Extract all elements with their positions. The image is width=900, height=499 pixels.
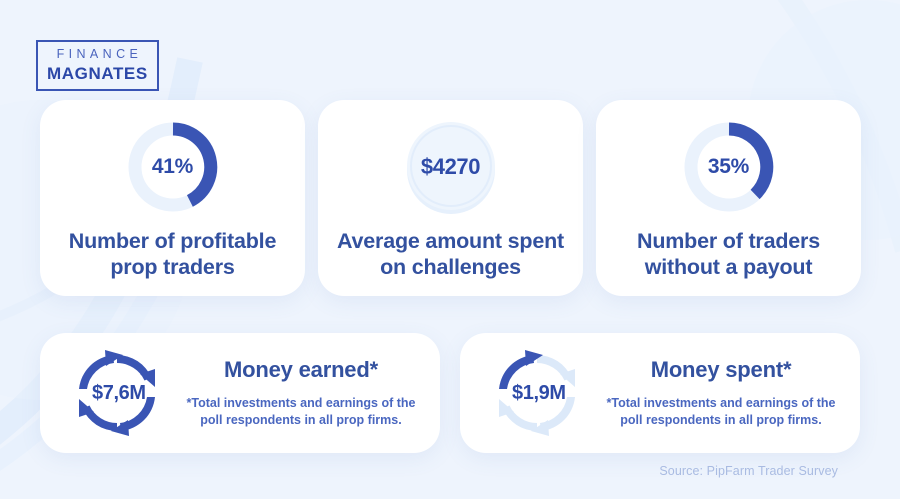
- stat-card-money-spent: $1,9M Money spent* *Total investments an…: [460, 333, 860, 453]
- stat-value: $1,9M: [478, 341, 596, 445]
- bottom-card-note-line2: poll respondents in all prop firms.: [200, 413, 401, 427]
- stat-card-title: Number of profitable prop traders: [52, 228, 293, 280]
- stat-value: $7,6M: [58, 341, 176, 445]
- stat-value: 35%: [680, 118, 778, 216]
- stat-card-money-earned: $7,6M Money earned* *Total investments a…: [40, 333, 440, 453]
- bottom-card-heading: Money earned*: [176, 357, 426, 383]
- logo-line-magnates: MAGNATES: [47, 65, 148, 82]
- finance-magnates-logo: FINANCE MAGNATES: [36, 40, 159, 91]
- recycle-arrows-icon: $1,9M: [478, 341, 596, 445]
- coin-container: $4270: [318, 118, 583, 216]
- stat-card-title: Number of traders without a payout: [608, 228, 849, 280]
- recycle-arrows-icon: $7,6M: [58, 341, 176, 445]
- stat-card-profitable-prop-traders: 41% Number of profitable prop traders: [40, 100, 305, 296]
- bottom-card-text: Money earned* *Total investments and ear…: [176, 357, 440, 429]
- stat-card-title-line1: Number of profitable: [69, 229, 276, 253]
- bottom-card-note: *Total investments and earnings of the p…: [596, 395, 846, 429]
- bottom-card-note: *Total investments and earnings of the p…: [176, 395, 426, 429]
- bottom-card-note-line1: *Total investments and earnings of the: [607, 396, 836, 410]
- stat-card-title-line2: without a payout: [645, 255, 813, 279]
- donut-container: 35%: [596, 118, 861, 216]
- bottom-card-note-line2: poll respondents in all prop firms.: [620, 413, 821, 427]
- donut-chart-icon: 41%: [124, 118, 222, 216]
- stat-card-title-line2: prop traders: [110, 255, 234, 279]
- source-attribution: Source: PipFarm Trader Survey: [659, 464, 838, 478]
- stat-card-title-line1: Number of traders: [637, 229, 820, 253]
- coin-circle-icon: $4270: [402, 118, 500, 216]
- bottom-card-text: Money spent* *Total investments and earn…: [596, 357, 860, 429]
- bottom-card-heading: Money spent*: [596, 357, 846, 383]
- bottom-card-note-line1: *Total investments and earnings of the: [187, 396, 416, 410]
- stat-card-title-line2: on challenges: [380, 255, 521, 279]
- stat-card-average-amount-spent: $4270 Average amount spent on challenges: [318, 100, 583, 296]
- stat-value: $4270: [402, 118, 500, 216]
- infographic-root: FINANCE MAGNATES 41% Number of profitabl…: [0, 0, 900, 499]
- stat-card-title: Average amount spent on challenges: [330, 228, 571, 280]
- stat-value: 41%: [124, 118, 222, 216]
- donut-container: 41%: [40, 118, 305, 216]
- donut-chart-icon: 35%: [680, 118, 778, 216]
- logo-line-finance: FINANCE: [47, 48, 148, 61]
- stat-card-traders-without-payout: 35% Number of traders without a payout: [596, 100, 861, 296]
- stat-card-title-line1: Average amount spent: [337, 229, 564, 253]
